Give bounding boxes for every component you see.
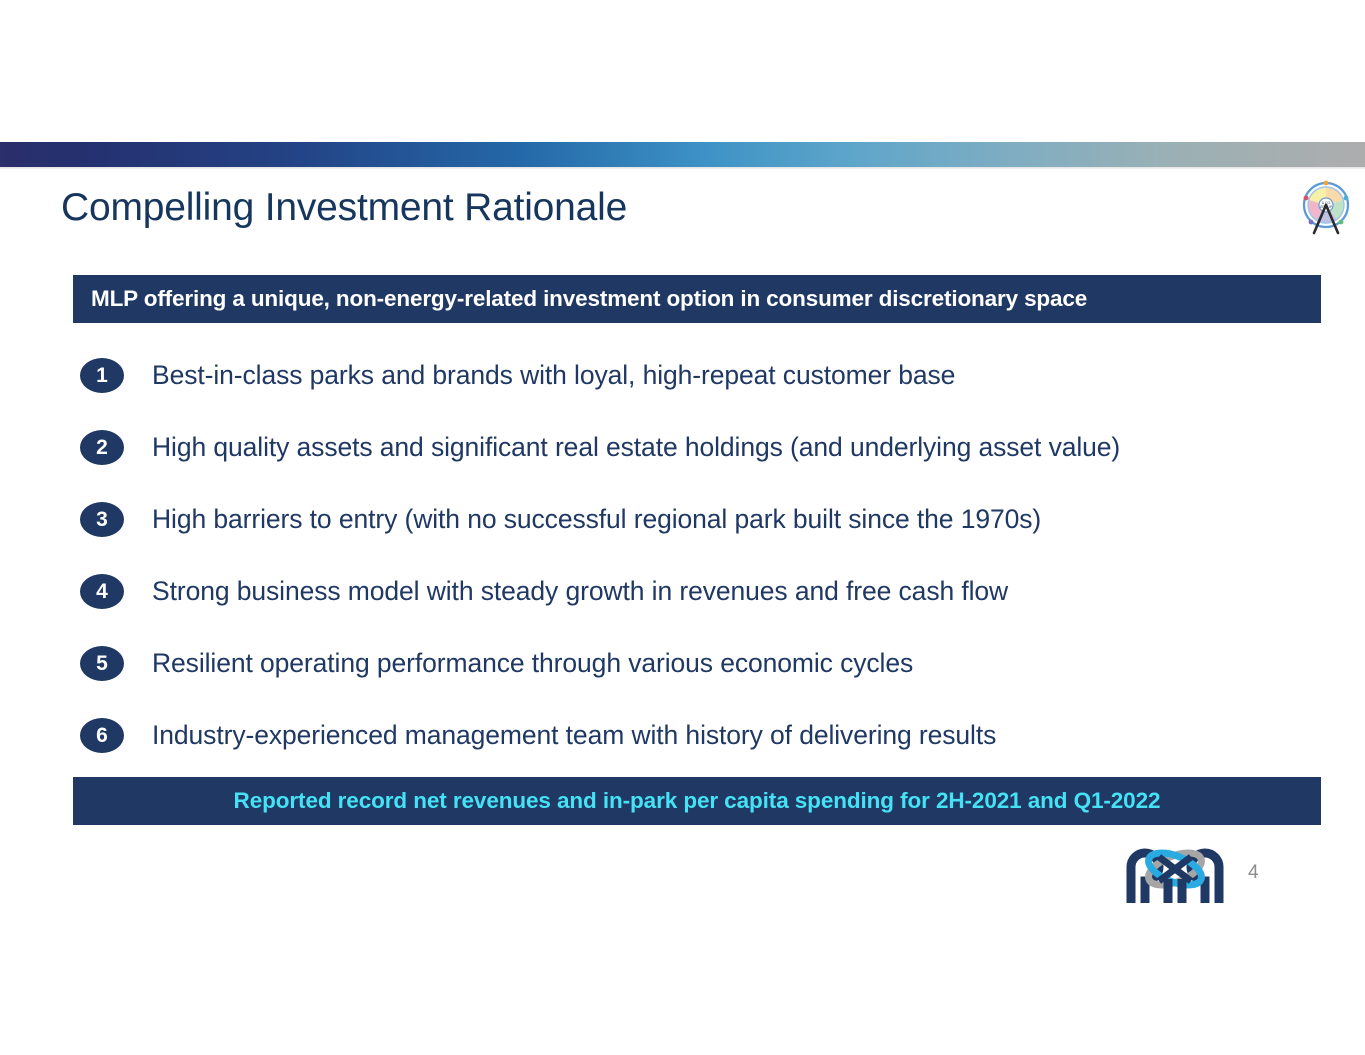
bullet-text-4: Strong business model with steady growth… bbox=[152, 568, 1008, 614]
bullet-row-5: 5 Resilient operating performance throug… bbox=[73, 640, 1321, 712]
roller-coaster-loop-icon bbox=[1119, 843, 1231, 905]
footer-banner-text: Reported record net revenues and in-park… bbox=[234, 788, 1161, 814]
ferris-wheel-icon: & CO GROUP bbox=[1297, 180, 1355, 240]
bullet-text-2: High quality assets and significant real… bbox=[152, 424, 1120, 470]
bullet-text-5: Resilient operating performance through … bbox=[152, 640, 913, 686]
bullet-number-badge-2: 2 bbox=[80, 430, 124, 465]
bullet-number-badge-5: 5 bbox=[80, 646, 124, 681]
page-title: Compelling Investment Rationale bbox=[61, 186, 627, 230]
header-banner-text: MLP offering a unique, non-energy-relate… bbox=[91, 286, 1087, 312]
page-number: 4 bbox=[1248, 862, 1259, 884]
bullet-number-badge-6: 6 bbox=[80, 718, 124, 753]
bullet-row-1: 1 Best-in-class parks and brands with lo… bbox=[73, 352, 1321, 424]
bullet-number-badge-3: 3 bbox=[80, 502, 124, 537]
bullet-list: 1 Best-in-class parks and brands with lo… bbox=[73, 352, 1321, 784]
bullet-row-4: 4 Strong business model with steady grow… bbox=[73, 568, 1321, 640]
bullet-number-badge-1: 1 bbox=[80, 358, 124, 393]
bullet-row-6: 6 Industry-experienced management team w… bbox=[73, 712, 1321, 784]
slide-canvas: Compelling Investment Rationale & CO GRO… bbox=[0, 0, 1365, 1055]
bullet-text-6: Industry-experienced management team wit… bbox=[152, 712, 996, 758]
bullet-text-1: Best-in-class parks and brands with loya… bbox=[152, 352, 955, 398]
gradient-band-shadow bbox=[0, 167, 1365, 170]
bullet-number-badge-4: 4 bbox=[80, 574, 124, 609]
top-gradient-band bbox=[0, 142, 1365, 167]
footer-banner: Reported record net revenues and in-park… bbox=[73, 777, 1321, 825]
bullet-text-3: High barriers to entry (with no successf… bbox=[152, 496, 1041, 542]
bullet-row-2: 2 High quality assets and significant re… bbox=[73, 424, 1321, 496]
bullet-row-3: 3 High barriers to entry (with no succes… bbox=[73, 496, 1321, 568]
header-banner: MLP offering a unique, non-energy-relate… bbox=[73, 275, 1321, 323]
